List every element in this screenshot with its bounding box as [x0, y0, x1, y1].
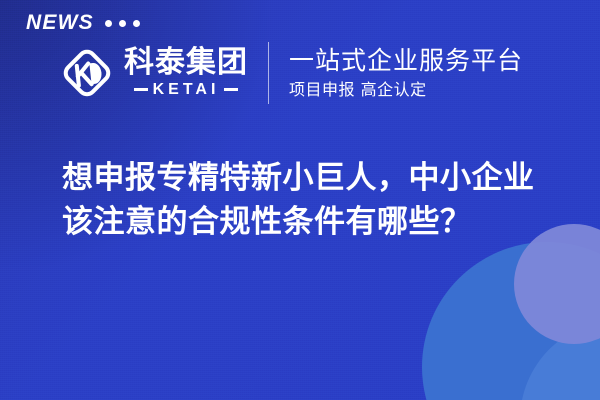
news-dot-icon: [119, 20, 126, 27]
tagline-main: 一站式企业服务平台: [289, 47, 523, 75]
brand-wordmark: 科泰集团 KETAI: [124, 48, 248, 98]
headline: 想申报专精特新小巨人，中小企业 该注意的合规性条件有哪些？: [62, 156, 576, 244]
tagline-block: 一站式企业服务平台 项目申报 高企认定: [289, 47, 523, 99]
brand-name-en-row: KETAI: [124, 82, 248, 98]
news-dot-icon: [105, 20, 112, 27]
headline-line-1: 想申报专精特新小巨人，中小企业: [62, 156, 576, 200]
wordmark-rule-left-icon: [134, 88, 148, 91]
news-kicker-label: NEWS: [26, 12, 94, 33]
brand-name-en: KETAI: [153, 82, 220, 98]
headline-line-2: 该注意的合规性条件有哪些？: [62, 200, 576, 244]
brand-divider: [268, 42, 269, 104]
news-kicker: NEWS: [26, 12, 140, 33]
brand-name-cn: 科泰集团: [124, 48, 248, 79]
wordmark-rule-right-icon: [224, 88, 238, 91]
news-banner: NEWS 科泰集团: [0, 0, 600, 400]
news-kicker-dots-icon: [105, 20, 140, 27]
brand-lockup: 科泰集团 KETAI 一站式企业服务平台 项目申报 高企认定: [58, 42, 523, 104]
news-dot-icon: [133, 20, 140, 27]
ketai-diamond-kd-logo-icon: [58, 44, 116, 102]
tagline-sub: 项目申报 高企认定: [289, 80, 523, 99]
